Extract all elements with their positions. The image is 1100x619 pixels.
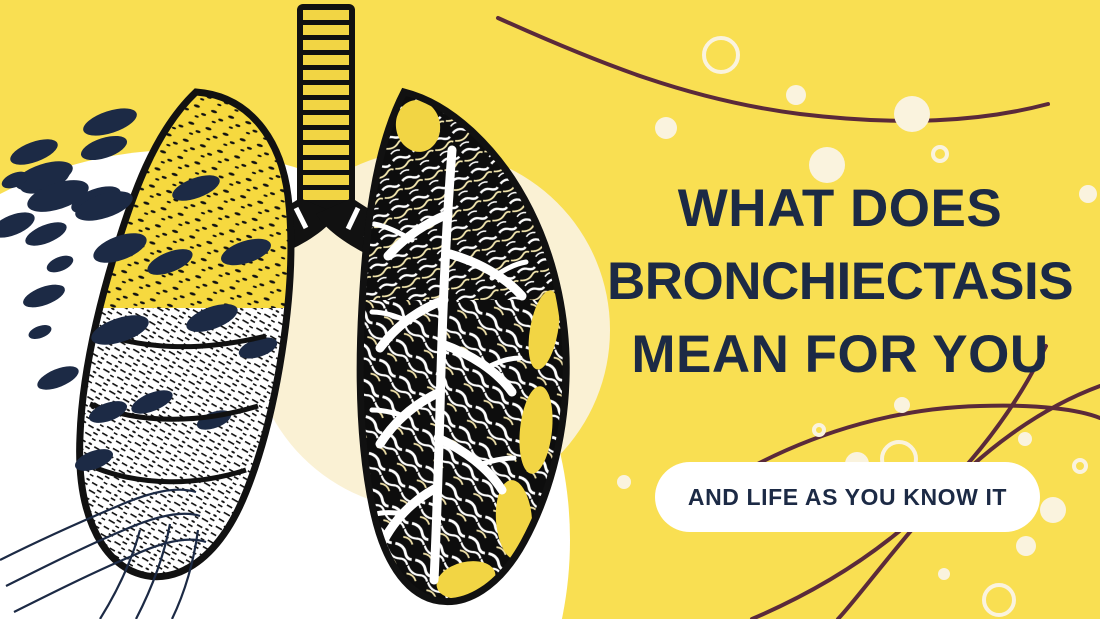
- circle-outline-2: [931, 145, 949, 163]
- circle-dot-1: [786, 85, 806, 105]
- circle-outline-5: [1072, 458, 1088, 474]
- circle-dot-2: [655, 117, 677, 139]
- circle-dot-6: [894, 397, 910, 413]
- circle-outline-1: [702, 36, 740, 74]
- headline-line-2: BRONCHIECTASIS: [560, 245, 1100, 318]
- cream-glow-circle: [250, 150, 610, 510]
- subtitle-text: AND LIFE AS YOU KNOW IT: [688, 484, 1007, 511]
- headline: WHAT DOES BRONCHIECTASIS MEAN FOR YOU: [560, 172, 1100, 391]
- circle-dot-13: [938, 568, 950, 580]
- subtitle-pill: AND LIFE AS YOU KNOW IT: [655, 462, 1040, 532]
- circle-dot-12: [1016, 536, 1036, 556]
- poster-canvas: WHAT DOES BRONCHIECTASIS MEAN FOR YOU AN…: [0, 0, 1100, 619]
- circle-dot-11: [1018, 432, 1032, 446]
- headline-line-1: WHAT DOES: [560, 172, 1100, 245]
- headline-line-3: MEAN FOR YOU: [560, 318, 1100, 391]
- circle-outline-4: [812, 423, 826, 437]
- circle-dot-9: [617, 475, 631, 489]
- circle-outline-6: [982, 583, 1016, 617]
- circle-dot-3: [894, 96, 930, 132]
- circle-dot-10: [1040, 497, 1066, 523]
